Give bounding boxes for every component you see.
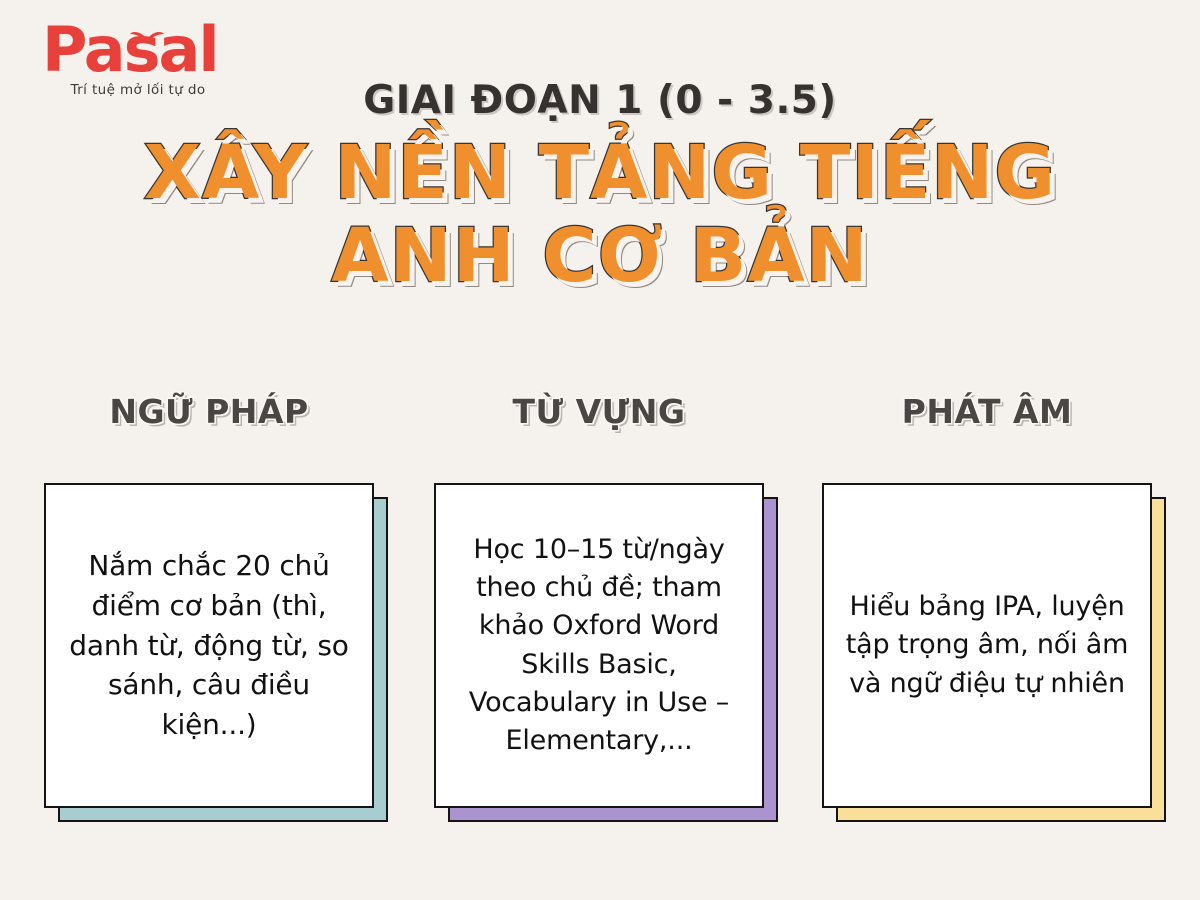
card-pronunciation: Hiểu bảng IPA, luyện tập trọng âm, nối â… [822, 483, 1152, 808]
card-body-vocabulary: Học 10–15 từ/ngày theo chủ đề; tham khảo… [448, 531, 750, 761]
page-title-line-1: XÂY NỀN TẢNG TIẾNG [0, 132, 1200, 215]
infographic-canvas: Pasal Trí tuệ mở lối tự do GIAI ĐOẠN 1 (… [0, 0, 1200, 900]
column-heading-grammar: NGỮ PHÁP [44, 392, 374, 431]
page-title-line-2: ANH CƠ BẢN [0, 215, 1200, 298]
card-face: Học 10–15 từ/ngày theo chủ đề; tham khảo… [434, 483, 764, 808]
card-vocabulary: Học 10–15 từ/ngày theo chủ đề; tham khảo… [434, 483, 764, 808]
card-grammar: Nắm chắc 20 chủ điểm cơ bản (thì, danh t… [44, 483, 374, 808]
column-heading-pronunciation: PHÁT ÂM [822, 392, 1152, 431]
logo-text: Pasal [38, 14, 238, 86]
card-face: Nắm chắc 20 chủ điểm cơ bản (thì, danh t… [44, 483, 374, 808]
page-title: XÂY NỀN TẢNG TIẾNG ANH CƠ BẢN [0, 132, 1200, 298]
column-heading-vocabulary: TỪ VỰNG [434, 392, 764, 431]
card-face: Hiểu bảng IPA, luyện tập trọng âm, nối â… [822, 483, 1152, 808]
stage-label: GIAI ĐOẠN 1 (0 - 3.5) [0, 78, 1200, 123]
card-body-pronunciation: Hiểu bảng IPA, luyện tập trọng âm, nối â… [836, 588, 1138, 703]
logo-wordmark: Pasal [38, 14, 238, 86]
card-body-grammar: Nắm chắc 20 chủ điểm cơ bản (thì, danh t… [58, 546, 360, 745]
